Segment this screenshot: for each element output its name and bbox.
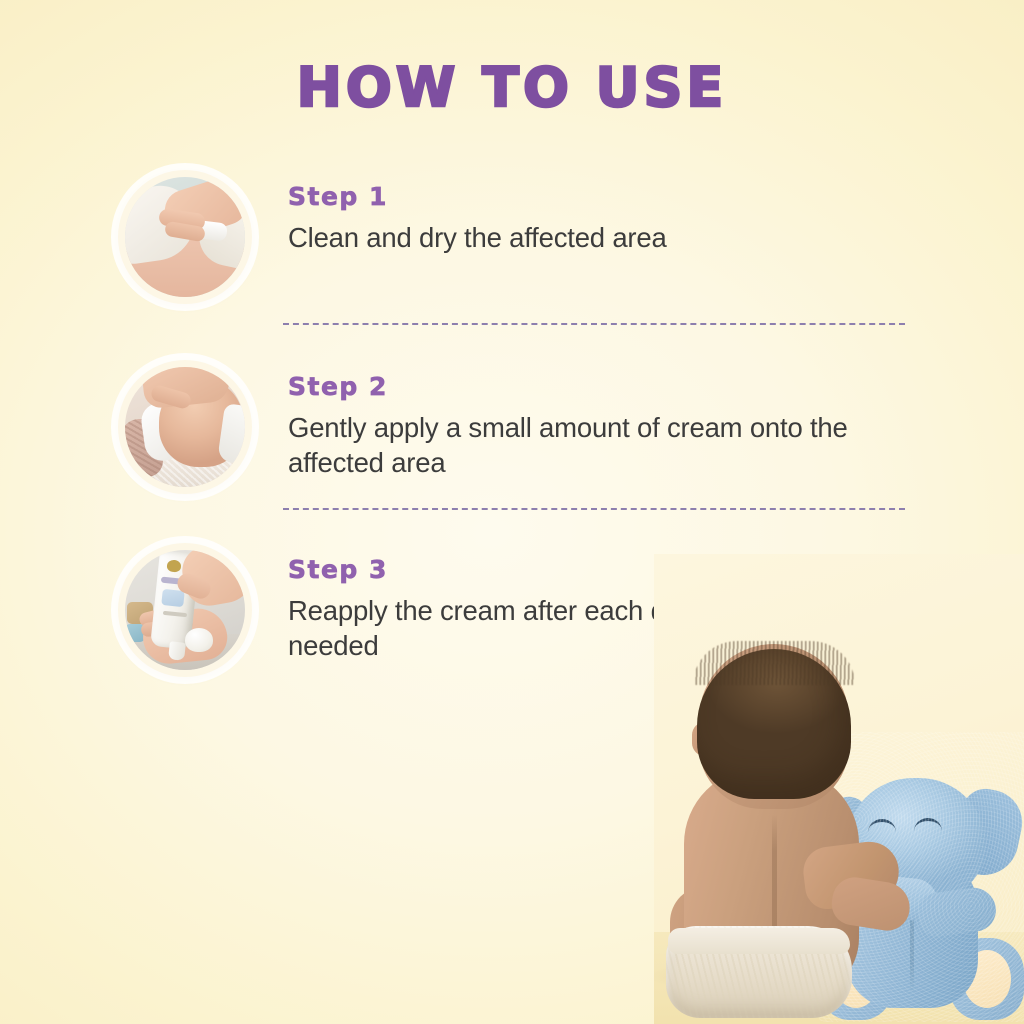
step-3-thumbnail	[125, 550, 245, 670]
step-2-label: Step 2	[288, 372, 928, 401]
step-1-image	[118, 170, 252, 304]
step-3-image	[118, 543, 252, 677]
step-divider-1	[283, 323, 905, 325]
step-2-image	[118, 360, 252, 494]
step-1-text-block: Step 1 Clean and dry the affected area	[288, 182, 928, 255]
baby-figure	[654, 604, 894, 1024]
page-title: HOW TO USE	[0, 56, 1024, 119]
baby-diaper-waistband	[668, 928, 850, 954]
baby-hair	[697, 649, 851, 799]
cream-blob	[185, 628, 213, 652]
step-1-label: Step 1	[288, 182, 928, 211]
step-2-text-block: Step 2 Gently apply a small amount of cr…	[288, 372, 928, 480]
step-2-thumbnail	[125, 367, 245, 487]
step-1-description: Clean and dry the affected area	[288, 220, 928, 255]
step-divider-2	[283, 508, 905, 510]
baby-with-elephant-photo	[654, 554, 1024, 1024]
step-2-description: Gently apply a small amount of cream ont…	[288, 410, 928, 480]
step-1-thumbnail	[125, 177, 245, 297]
how-to-use-infographic: HOW TO USE Step 1 Clean and dry the affe…	[0, 0, 1024, 1024]
